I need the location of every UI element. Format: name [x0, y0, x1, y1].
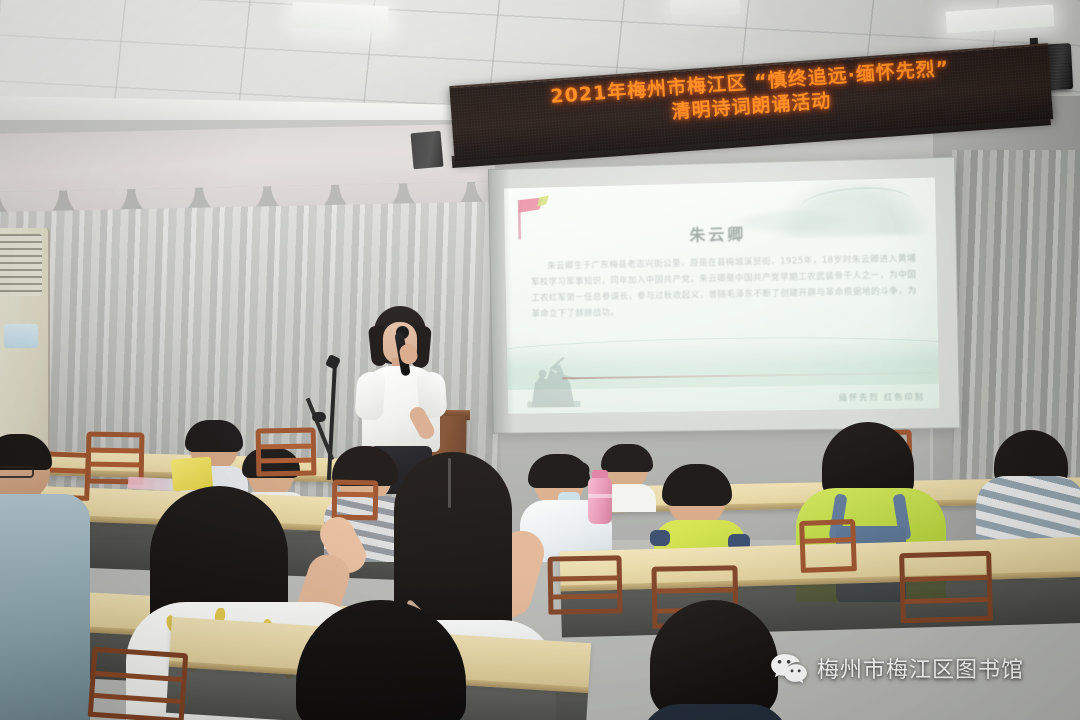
foreground-boy — [640, 600, 790, 720]
glasses-icon — [0, 466, 34, 478]
sleeve-cuff-left — [650, 530, 670, 546]
chair-back — [88, 647, 189, 720]
avatar — [650, 600, 778, 718]
wall-speaker-left — [410, 131, 443, 169]
chair[interactable] — [899, 551, 993, 623]
torso — [0, 494, 90, 720]
ceiling-light-3 — [670, 0, 740, 14]
mic-stand-knob — [312, 412, 326, 422]
chair[interactable] — [799, 519, 857, 573]
memorial-monument-icon — [521, 353, 587, 407]
ac-label-sticker — [4, 324, 38, 348]
hair — [185, 420, 243, 452]
sleeve-left — [354, 371, 385, 421]
slide-body-text: 朱云卿生于广东梅县老志兴街公里，原是在县梅城溪贸街。1925年，18岁时朱云卿进… — [531, 251, 918, 323]
watermark-text: 梅州市梅江区图书馆 — [817, 652, 1024, 684]
watermark: 梅州市梅江区图书馆 — [770, 652, 1024, 684]
man-with-glasses — [0, 440, 92, 720]
wechat-icon — [770, 652, 808, 684]
hair — [662, 464, 732, 506]
bottle-band — [588, 494, 612, 498]
hair — [0, 434, 52, 470]
ac-vent-icon — [0, 234, 42, 296]
projection-screen: 朱云卿 朱云卿生于广东梅县老志兴街公里，原是在县梅城溪贸街。1925年，18岁时… — [488, 157, 960, 434]
presentation-slide: 朱云卿 朱云卿生于广东梅县老志兴街公里，原是在县梅城溪贸街。1925年，18岁时… — [504, 178, 939, 414]
event-photo: 2021年梅州市梅江区 “慎终追远·缅怀先烈” 清明诗词朗诵活动 朱云卿 朱云卿… — [0, 0, 1080, 720]
chair-slat — [90, 448, 140, 454]
ceiling-light-1 — [291, 2, 388, 33]
slide-title: 朱云卿 — [505, 216, 936, 250]
avatar — [296, 600, 466, 720]
pink-water-bottle — [588, 478, 612, 524]
foreground-woman — [296, 600, 486, 720]
chair-back — [799, 519, 857, 573]
slide-footer-text: 缅怀先烈 红色印刻 — [839, 391, 925, 403]
chair[interactable] — [88, 647, 189, 720]
hair-part — [448, 458, 451, 508]
chair-back — [899, 551, 993, 623]
chair-slat — [90, 462, 140, 468]
